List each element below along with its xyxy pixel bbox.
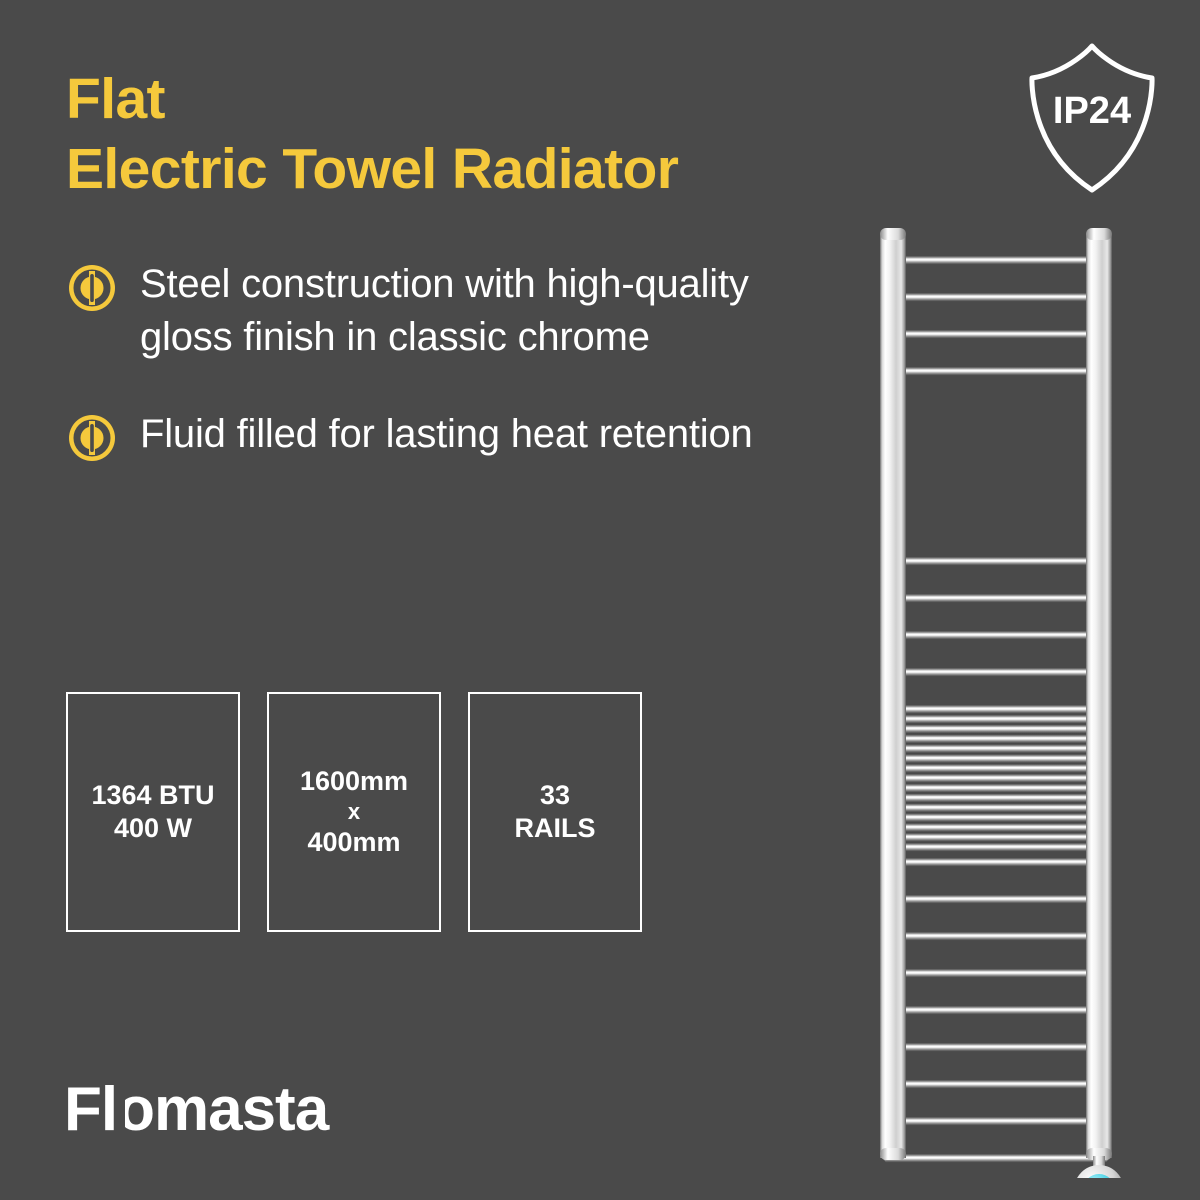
list-item: Steel construction with high-quality glo… — [68, 258, 788, 364]
check-circle-icon — [68, 264, 116, 312]
ip-rating-badge: IP24 — [1022, 38, 1162, 198]
spec-line: 1600mm — [300, 765, 408, 798]
list-item: Fluid filled for lasting heat retention — [68, 408, 788, 462]
spec-line: 400 W — [114, 812, 192, 845]
spec-box-heat-output: 1364 BTU 400 W — [66, 692, 240, 932]
spec-line: 400mm — [307, 826, 400, 859]
spec-box-group: 1364 BTU 400 W 1600mm x 400mm 33 RAILS — [66, 692, 642, 932]
spec-line: 33 — [540, 779, 570, 812]
feature-text: Steel construction with high-quality glo… — [140, 258, 788, 364]
page-title: Flat Electric Towel Radiator — [66, 64, 826, 204]
title-line-2: Electric Towel Radiator — [66, 134, 826, 204]
radiator-side-post-right — [1086, 228, 1112, 1160]
title-line-1: Flat — [66, 64, 826, 134]
brand-logo: Flomasta — [64, 1080, 364, 1142]
spec-box-dimensions: 1600mm x 400mm — [267, 692, 441, 932]
brand-name: Flomasta — [64, 1080, 330, 1142]
spec-line: 1364 BTU — [91, 779, 214, 812]
product-feature-card: Flat Electric Towel Radiator IP24 Steel … — [0, 0, 1200, 1200]
radiator-illustration — [862, 218, 1130, 1178]
shield-icon: IP24 — [1022, 38, 1162, 198]
ip-rating-label: IP24 — [1053, 90, 1131, 132]
spec-box-rail-count: 33 RAILS — [468, 692, 642, 932]
spec-line: RAILS — [515, 812, 596, 845]
radiator-rails-lower — [884, 705, 1108, 852]
check-circle-icon — [68, 414, 116, 462]
feature-list: Steel construction with high-quality glo… — [68, 258, 788, 506]
product-image-radiator — [862, 218, 1130, 1178]
feature-text: Fluid filled for lasting heat retention — [140, 408, 753, 461]
spec-line: x — [348, 798, 360, 826]
radiator-side-post-left — [880, 228, 906, 1160]
